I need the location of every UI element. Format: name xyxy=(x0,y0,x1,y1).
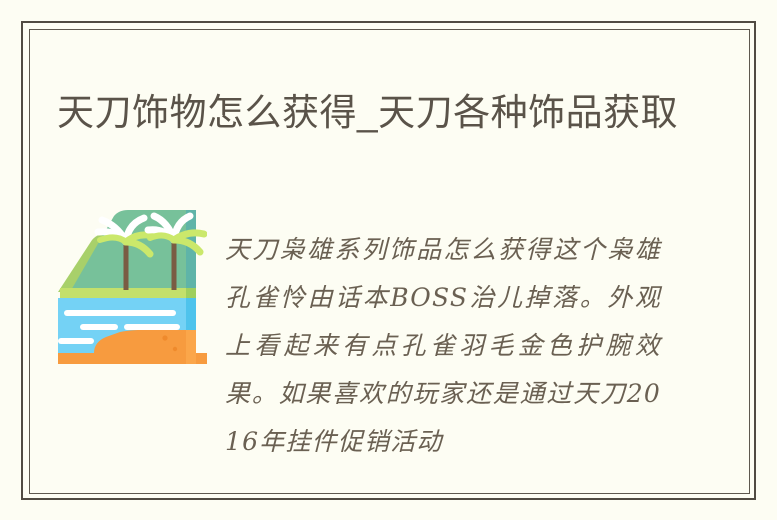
article-paragraph: 天刀枭雄系列饰品怎么获得这个枭雄孔雀怜由话本BOSS治儿掉落。外观上看起来有点孔… xyxy=(225,226,661,466)
beach-island-illustration xyxy=(58,210,207,364)
article-page: 天刀饰物怎么获得_天刀各种饰品获取 xyxy=(0,0,777,520)
article-body: 天刀枭雄系列饰品怎么获得这个枭雄孔雀怜由话本BOSS治儿掉落。外观上看起来有点孔… xyxy=(29,201,750,491)
page-title: 天刀饰物怎么获得_天刀各种饰品获取 xyxy=(57,85,697,140)
beach-island-icon xyxy=(58,210,207,364)
article-content: 天刀饰物怎么获得_天刀各种饰品获取 xyxy=(29,29,750,494)
